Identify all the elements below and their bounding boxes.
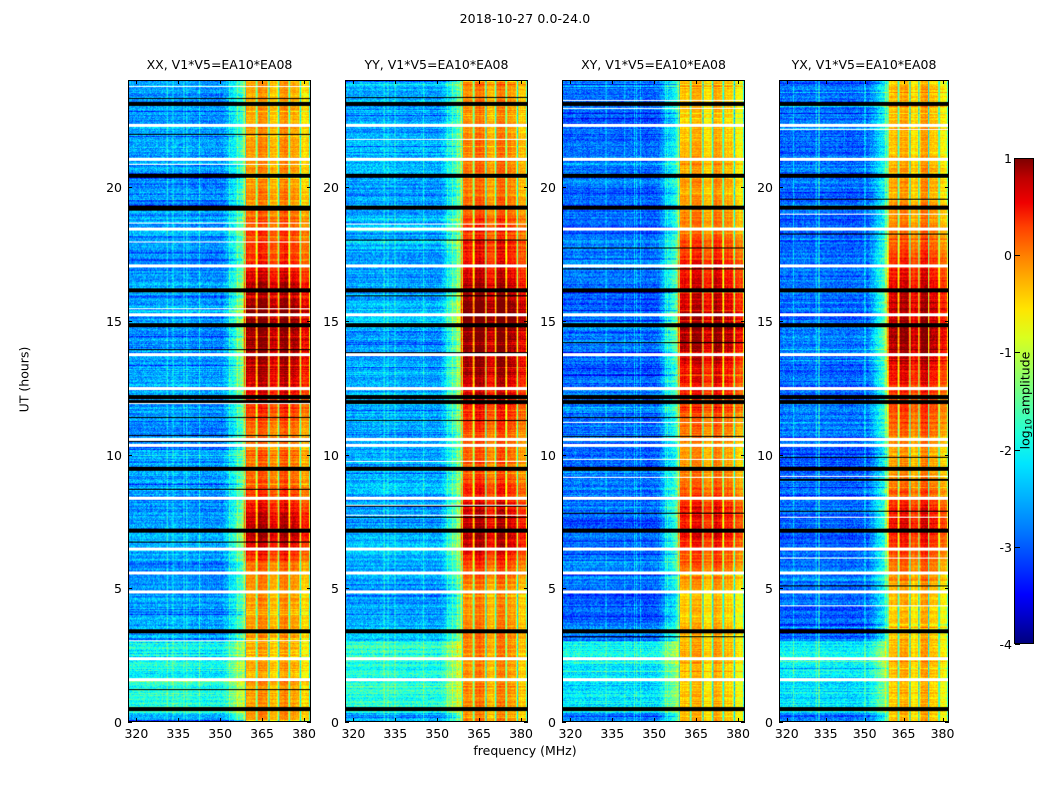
- y-tick-mark: [345, 722, 349, 723]
- y-tick-mark: [562, 321, 566, 322]
- y-tick-mark: [128, 187, 132, 188]
- y-tick-mark: [128, 321, 132, 322]
- x-tick-label: 380: [921, 726, 965, 741]
- x-tick-label: 335: [373, 726, 417, 741]
- x-tick-mark: [787, 718, 788, 722]
- x-tick-mark: [904, 718, 905, 722]
- x-tick-mark-top: [787, 80, 788, 84]
- x-tick-mark-top: [738, 80, 739, 84]
- colorbar-label-subscript: 10: [1025, 419, 1035, 430]
- x-tick-mark-top: [521, 80, 522, 84]
- x-tick-mark: [304, 718, 305, 722]
- y-tick-mark: [345, 455, 349, 456]
- y-tick-mark: [562, 455, 566, 456]
- y-tick-mark-right: [945, 187, 949, 188]
- y-tick-mark: [345, 321, 349, 322]
- y-tick-label: 5: [92, 581, 122, 595]
- y-tick-mark: [128, 722, 132, 723]
- x-tick-label: 335: [156, 726, 200, 741]
- y-tick-label: 5: [309, 581, 339, 595]
- y-tick-label: 10: [743, 448, 773, 462]
- y-tick-label: 10: [526, 448, 556, 462]
- y-tick-mark: [779, 455, 783, 456]
- x-tick-mark: [136, 718, 137, 722]
- x-tick-mark: [479, 718, 480, 722]
- y-tick-mark: [128, 588, 132, 589]
- x-tick-mark: [738, 718, 739, 722]
- y-tick-label: 20: [743, 180, 773, 194]
- y-tick-label: 10: [309, 448, 339, 462]
- waterfall-image-xy: [563, 81, 744, 721]
- colorbar-tick-mark: [1015, 255, 1020, 256]
- figure-suptitle: 2018-10-27 0.0-24.0: [0, 11, 1050, 26]
- panel-title-xx: XX, V1*V5=EA10*EA08: [128, 57, 311, 75]
- y-tick-label: 5: [743, 581, 773, 595]
- y-tick-label: 5: [526, 581, 556, 595]
- x-tick-mark: [521, 718, 522, 722]
- x-tick-mark: [943, 718, 944, 722]
- y-tick-mark-right: [945, 722, 949, 723]
- x-tick-mark-top: [865, 80, 866, 84]
- x-tick-label: 335: [590, 726, 634, 741]
- x-tick-mark-top: [612, 80, 613, 84]
- x-tick-mark: [353, 718, 354, 722]
- y-tick-label: 0: [743, 715, 773, 729]
- x-tick-mark: [220, 718, 221, 722]
- x-tick-label: 365: [457, 726, 501, 741]
- y-tick-label: 10: [92, 448, 122, 462]
- x-tick-mark-top: [304, 80, 305, 84]
- y-tick-mark: [562, 187, 566, 188]
- x-tick-label: 335: [804, 726, 848, 741]
- x-tick-mark-top: [904, 80, 905, 84]
- x-tick-mark: [262, 718, 263, 722]
- x-tick-label: 350: [198, 726, 242, 741]
- x-tick-mark-top: [220, 80, 221, 84]
- x-tick-mark: [612, 718, 613, 722]
- waterfall-image-xx: [129, 81, 310, 721]
- colorbar-tick-label: -4: [972, 637, 1012, 651]
- y-tick-mark: [779, 321, 783, 322]
- y-tick-label: 20: [309, 180, 339, 194]
- colorbar-label-prefix: log: [1018, 430, 1033, 449]
- colorbar-tick-mark: [1015, 644, 1020, 645]
- colorbar-label-suffix: amplitude: [1018, 352, 1033, 419]
- y-tick-mark: [562, 722, 566, 723]
- figure-canvas: 2018-10-27 0.0-24.0 XX, V1*V5=EA10*EA08 …: [0, 0, 1050, 800]
- y-tick-mark: [345, 187, 349, 188]
- x-tick-mark-top: [262, 80, 263, 84]
- panel-title-yy: YY, V1*V5=EA10*EA08: [345, 57, 528, 75]
- y-tick-mark: [779, 722, 783, 723]
- y-tick-mark-right: [945, 588, 949, 589]
- y-tick-mark-right: [945, 321, 949, 322]
- y-tick-label: 15: [92, 314, 122, 328]
- waterfall-image-yx: [780, 81, 948, 721]
- y-tick-label: 20: [92, 180, 122, 194]
- panel-title-yx: YX, V1*V5=EA10*EA08: [779, 57, 949, 75]
- x-tick-mark: [865, 718, 866, 722]
- waterfall-panel-yy[interactable]: [345, 80, 528, 722]
- colorbar-label: log10 amplitude: [1018, 321, 1033, 481]
- colorbar-tick-mark: [1015, 547, 1020, 548]
- x-tick-mark-top: [826, 80, 827, 84]
- y-tick-label: 15: [526, 314, 556, 328]
- y-tick-label: 20: [526, 180, 556, 194]
- y-tick-mark: [345, 588, 349, 589]
- y-tick-label: 15: [309, 314, 339, 328]
- x-tick-mark-top: [136, 80, 137, 84]
- colorbar-tick-label: 1: [972, 151, 1012, 165]
- x-tick-mark: [696, 718, 697, 722]
- x-tick-mark: [826, 718, 827, 722]
- x-tick-mark-top: [654, 80, 655, 84]
- x-tick-label: 365: [240, 726, 284, 741]
- panel-title-xy: XY, V1*V5=EA10*EA08: [562, 57, 745, 75]
- waterfall-panel-yx[interactable]: [779, 80, 949, 722]
- x-axis-label: frequency (MHz): [0, 743, 1050, 758]
- x-tick-mark-top: [437, 80, 438, 84]
- x-tick-mark: [437, 718, 438, 722]
- x-tick-mark-top: [479, 80, 480, 84]
- x-tick-mark-top: [570, 80, 571, 84]
- y-tick-label: 0: [92, 715, 122, 729]
- colorbar-tick-label: -2: [972, 443, 1012, 457]
- x-tick-label: 365: [882, 726, 926, 741]
- y-tick-label: 0: [309, 715, 339, 729]
- colorbar-tick-label: 0: [972, 248, 1012, 262]
- x-tick-mark: [570, 718, 571, 722]
- y-tick-mark-right: [945, 455, 949, 456]
- x-tick-mark: [395, 718, 396, 722]
- y-tick-label: 0: [526, 715, 556, 729]
- x-tick-mark-top: [943, 80, 944, 84]
- waterfall-panel-xx[interactable]: [128, 80, 311, 722]
- x-tick-mark: [178, 718, 179, 722]
- colorbar-tick-label: -1: [972, 345, 1012, 359]
- waterfall-panel-xy[interactable]: [562, 80, 745, 722]
- x-tick-mark: [654, 718, 655, 722]
- x-tick-label: 350: [415, 726, 459, 741]
- colorbar-tick-label: -3: [972, 540, 1012, 554]
- x-tick-label: 365: [674, 726, 718, 741]
- y-tick-label: 15: [743, 314, 773, 328]
- x-tick-mark-top: [395, 80, 396, 84]
- x-tick-mark-top: [353, 80, 354, 84]
- x-tick-label: 350: [632, 726, 676, 741]
- y-tick-mark: [562, 588, 566, 589]
- colorbar-tick-mark: [1015, 158, 1020, 159]
- y-tick-mark: [779, 187, 783, 188]
- y-tick-mark: [128, 455, 132, 456]
- x-tick-mark-top: [178, 80, 179, 84]
- x-tick-mark-top: [696, 80, 697, 84]
- y-tick-mark: [779, 588, 783, 589]
- waterfall-image-yy: [346, 81, 527, 721]
- y-axis-label: UT (hours): [17, 320, 32, 440]
- x-tick-label: 350: [843, 726, 887, 741]
